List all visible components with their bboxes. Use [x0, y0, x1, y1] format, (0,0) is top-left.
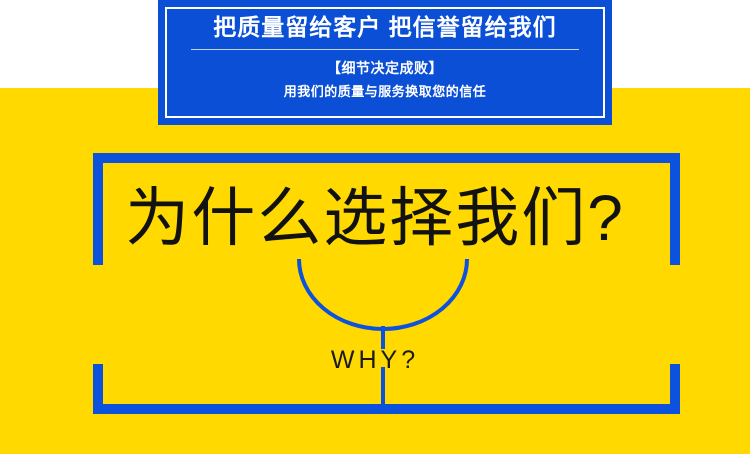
why-label: WHY?: [0, 348, 750, 373]
frame-bar-top: [93, 153, 680, 163]
banner-subtitle-secondary: 用我们的质量与服务换取您的信任: [284, 84, 487, 101]
slogan-banner: 把质量留给客户 把信誉留给我们 【细节决定成败】 用我们的质量与服务换取您的信任: [158, 0, 612, 125]
yellow-background: [0, 88, 750, 454]
banner-subtitle-primary: 【细节决定成败】: [327, 59, 443, 77]
banner-divider: [191, 49, 579, 50]
promo-banner-stage: 把质量留给客户 把信誉留给我们 【细节决定成败】 用我们的质量与服务换取您的信任…: [0, 0, 750, 454]
page-title: 为什么选择我们?: [0, 186, 750, 250]
banner-title: 把质量留给客户 把信誉留给我们: [213, 14, 556, 40]
frame-bar-bottom: [93, 404, 680, 414]
banner-content: 把质量留给客户 把信誉留给我们 【细节决定成败】 用我们的质量与服务换取您的信任: [158, 0, 612, 125]
